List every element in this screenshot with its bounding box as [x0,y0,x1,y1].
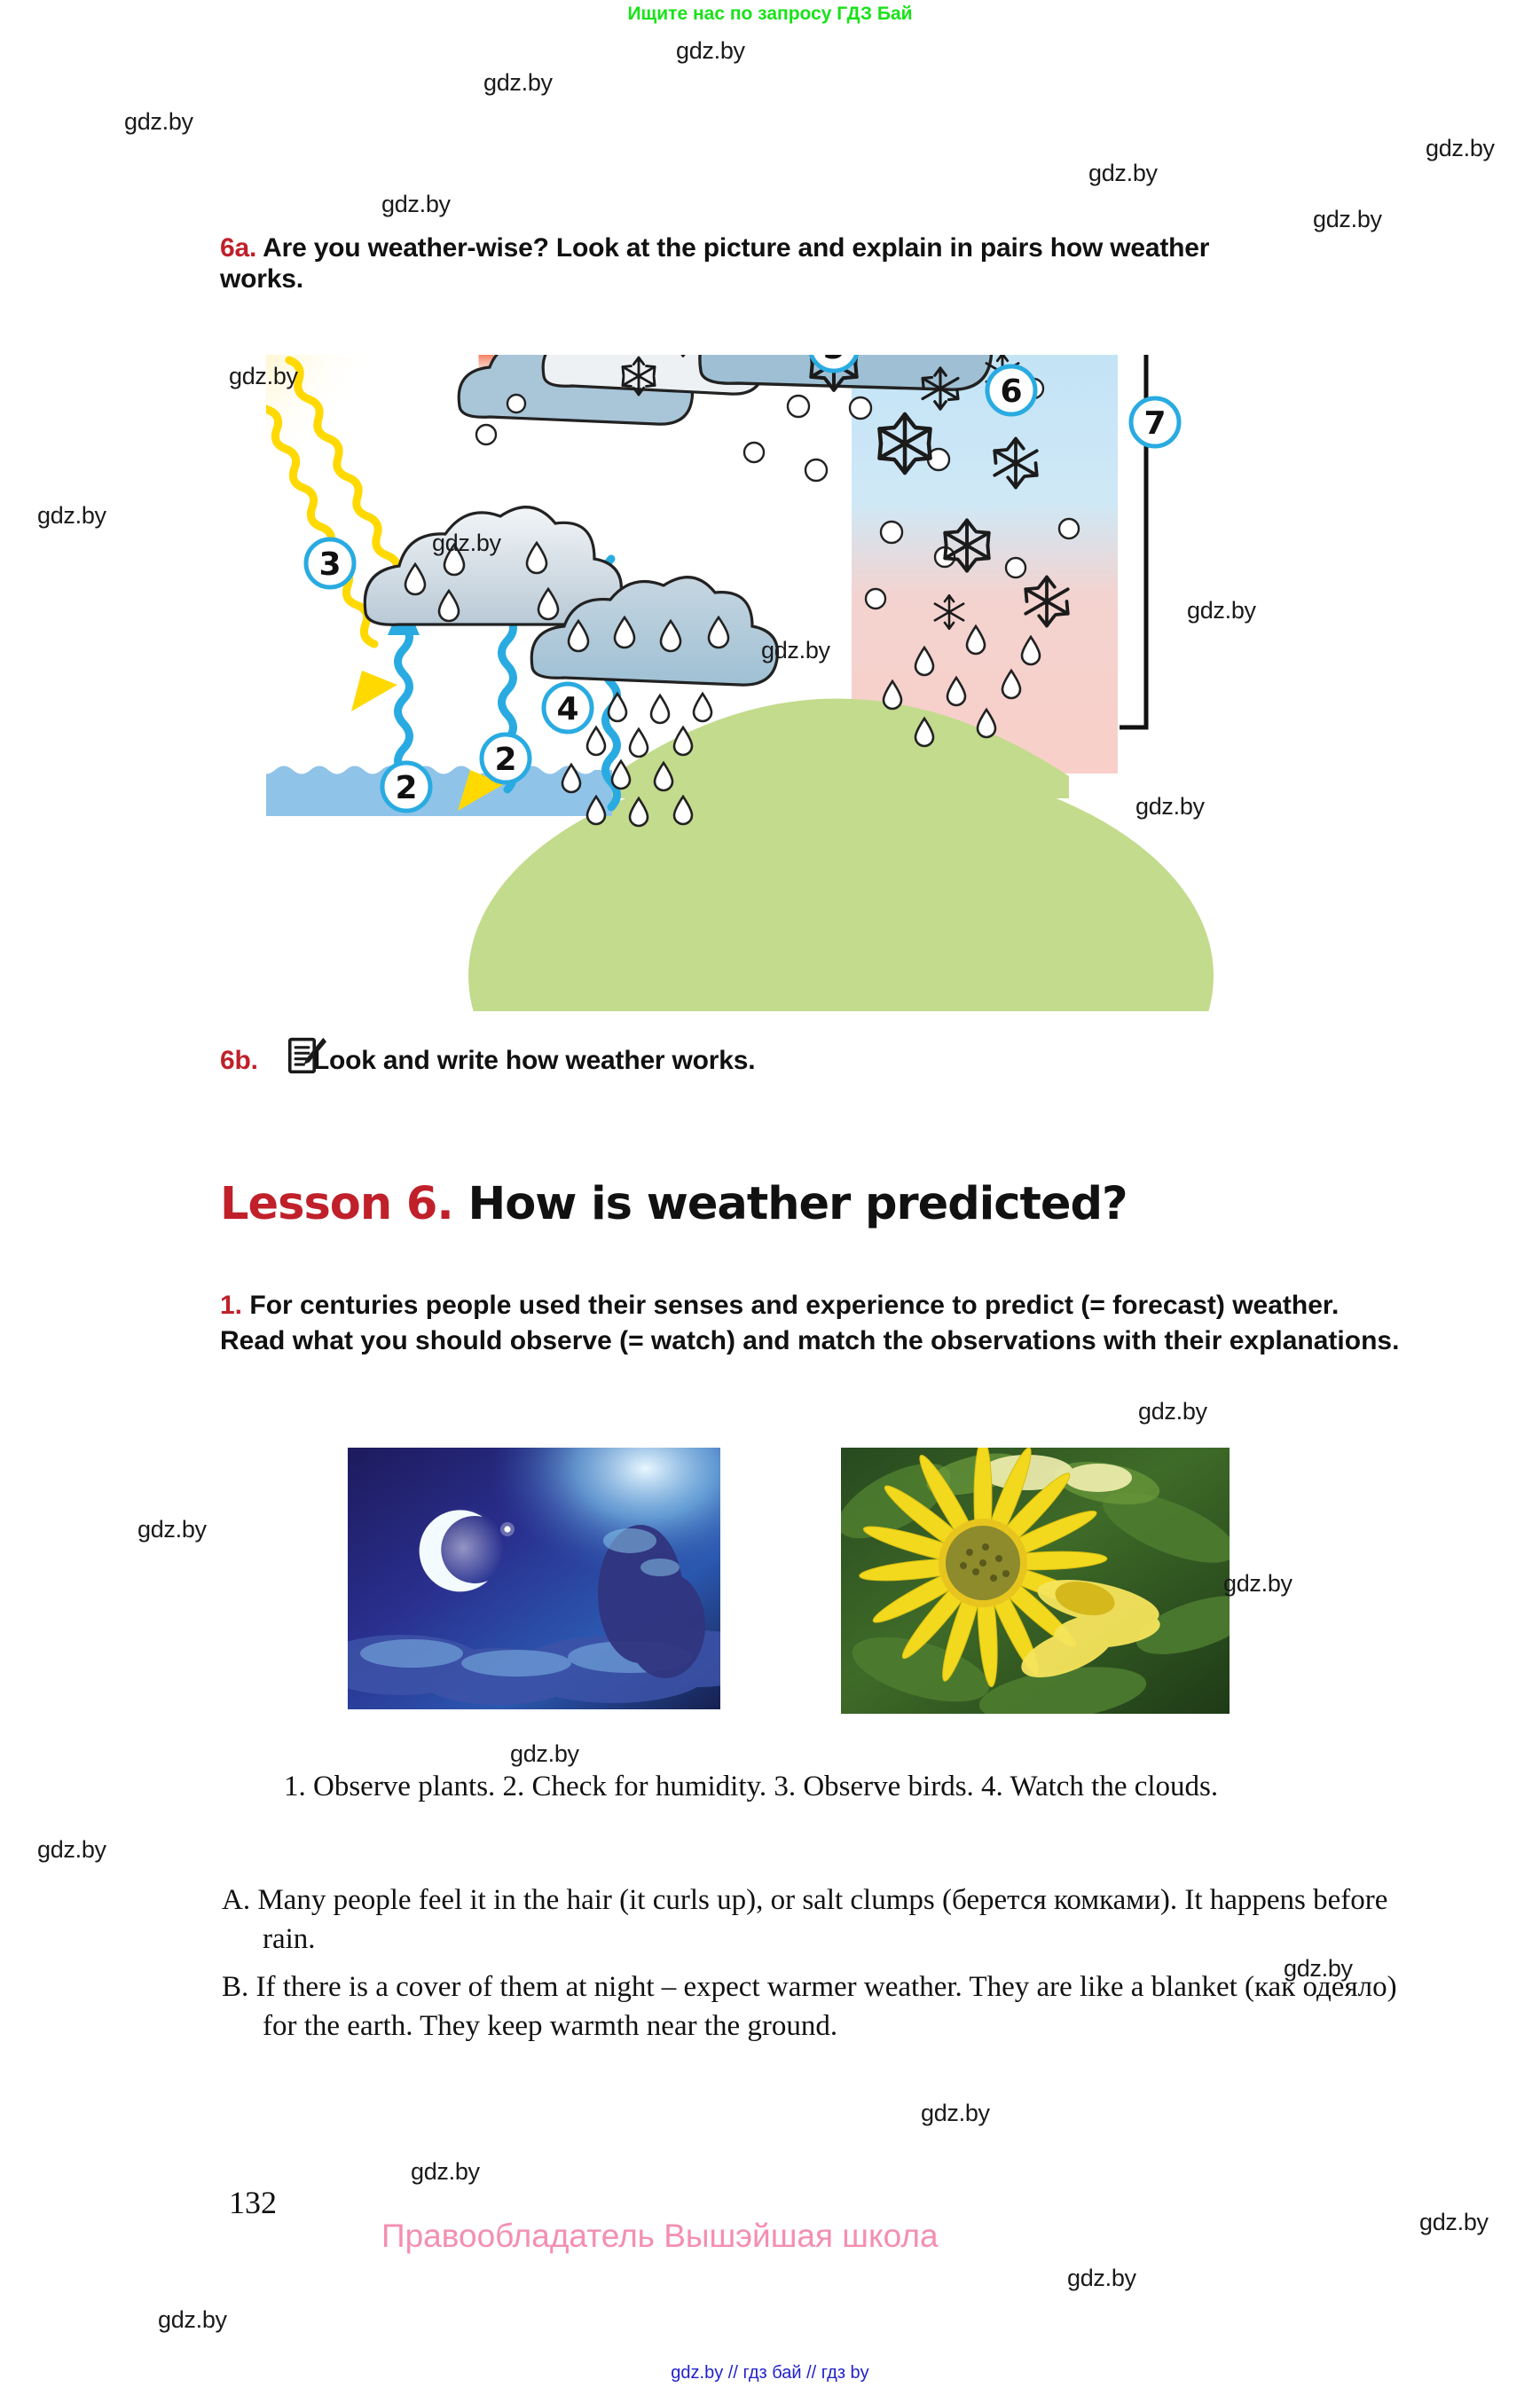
explanation-a-text: Many people feel it in the hair (it curl… [257,1884,1387,1955]
lesson-title: Lesson 6. How is weather predicted? [220,1178,1127,1230]
diagram-marker-7: 7 [1131,398,1179,446]
svg-text:2: 2 [395,770,417,806]
night-sky-moon-photo [348,1448,720,1709]
task-1-heading: 1. For centuries people used their sense… [220,1288,1400,1358]
watermark-11: gdz.by [761,637,830,664]
observations-list: 1. Observe plants. 2. Check for humidity… [222,1767,1410,1806]
watermark-17: gdz.by [37,1836,106,1864]
watermark-13: gdz.by [1138,1398,1207,1425]
svg-text:6: 6 [1000,373,1022,410]
watermark-1: gdz.by [483,69,553,97]
watermark-15: gdz.by [1223,1570,1292,1598]
watermark-23: gdz.by [158,2306,227,2334]
watermark-7: gdz.by [229,363,298,390]
watermark-21: gdz.by [1419,2209,1489,2236]
watermark-4: gdz.by [1088,160,1158,187]
lesson-heading-text: How is weather predicted? [468,1178,1127,1230]
exercise-6a-text: Are you weather-wise? Look at the pictur… [220,233,1209,294]
task-1-text: For centuries people used their senses a… [220,1291,1399,1355]
watermark-16: gdz.by [510,1740,579,1768]
watermark-6: gdz.by [1313,206,1382,233]
textbook-page: Ищите нас по запросу ГДЗ Бай 6a. Are you… [0,0,1540,2403]
watermark-5: gdz.by [381,191,451,218]
diagram-marker-2a: 3 [306,539,354,587]
exercise-6b-heading: 6b. Look and write how weather works. [220,1045,1196,1076]
watermark-14: gdz.by [137,1516,207,1543]
weather-cycle-diagram: 1 3 2 2 4 [266,355,1410,1011]
watermark-19: gdz.by [921,2100,990,2127]
watermark-3: gdz.by [1426,135,1495,162]
explanation-b-letter: B. [222,1971,248,2003]
watermark-2: gdz.by [124,108,193,136]
exercise-6b-text: Look and write how weather works. [313,1046,756,1075]
watermark-10: gdz.by [1187,597,1256,624]
exercise-6a-heading: 6a. Are you weather-wise? Look at the pi… [220,232,1267,295]
watermark-18: gdz.by [1284,1955,1353,1983]
watermark-12: gdz.by [1135,793,1205,821]
svg-text:7: 7 [1143,405,1166,442]
exercise-6a-number: 6a. [220,233,256,263]
explanation-a-letter: A. [222,1884,250,1916]
footer-links: gdz.by // гдз бай // гдз by [0,2363,1540,2383]
svg-text:4: 4 [556,691,578,727]
watermark-0: gdz.by [676,37,745,65]
diagram-marker-4: 4 [544,684,592,732]
exercise-6b-number: 6b. [220,1046,258,1075]
svg-text:2: 2 [494,742,516,778]
watermark-8: gdz.by [37,502,106,530]
yellow-flower-photo [841,1448,1230,1714]
svg-text:5: 5 [822,355,845,366]
diagram-marker-2c: 2 [482,734,530,782]
svg-text:3: 3 [318,546,341,583]
page-number: 132 [229,2184,277,2221]
watermark-20: gdz.by [411,2158,480,2186]
task-1-number: 1. [220,1291,242,1320]
copyright-notice: Правообладатель Вышэйшая школа [381,2218,939,2255]
diagram-marker-6: 6 [987,366,1035,414]
explanation-item-a: A. Many people feel it in the hair (it c… [222,1881,1419,1959]
watermark-22: gdz.by [1067,2265,1136,2292]
explanation-b-text: If there is a cover of them at night – e… [256,1971,1397,2042]
lesson-label: Lesson 6. [220,1178,453,1230]
explanation-item-b: B. If there is a cover of them at night … [222,1967,1419,2046]
site-banner: Ищите нас по запросу ГДЗ Бай [0,4,1540,25]
diagram-marker-2b: 2 [382,763,430,811]
watermark-9: gdz.by [432,530,501,557]
